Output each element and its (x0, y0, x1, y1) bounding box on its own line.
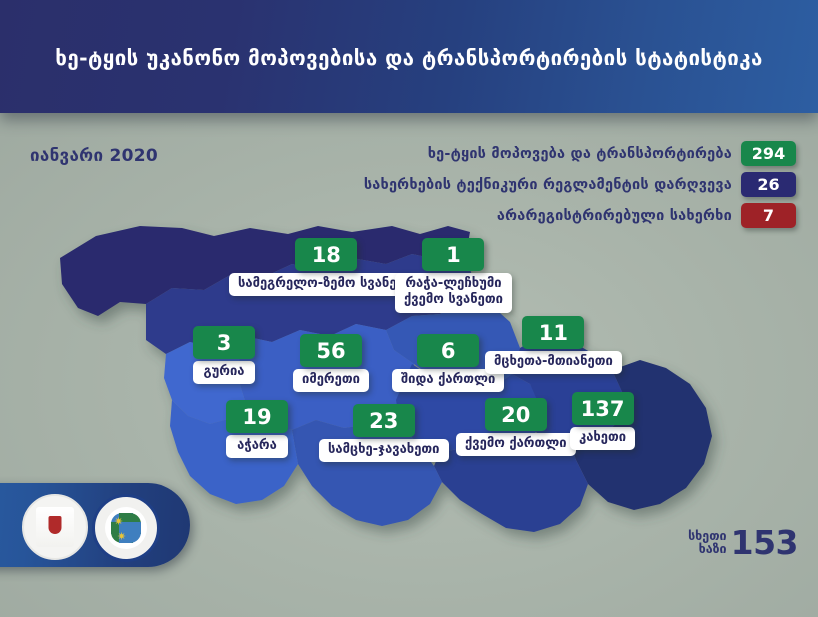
marker-guria[interactable]: 3 გურია (193, 326, 255, 384)
marker-samtskhe-javakheti[interactable]: 23 სამცხე-ჯავახეთი (319, 404, 449, 462)
total-label: სხეთი ხაზი (688, 530, 727, 556)
marker-label: სამცხე-ჯავახეთი (319, 439, 449, 462)
star-icon: ✷ (114, 516, 123, 527)
legend-label: არარეგისტრირებული სახერხი (497, 208, 732, 224)
marker-label: რაჭა-ლეჩხუმი ქვემო სვანეთი (395, 273, 512, 313)
page-title: ხე-ტყის უკანონო მოპოვებისა და ტრანსპორტი… (0, 46, 818, 70)
legend-badge-navy: 26 (741, 172, 796, 197)
marker-value: 137 (572, 392, 634, 425)
star-icon: ✷ (117, 531, 126, 542)
marker-value: 20 (485, 398, 547, 431)
total-value: 153 (731, 526, 798, 559)
shield-icon (49, 516, 62, 534)
legend: ხე-ტყის მოპოვება და ტრანსპორტირება 294 ს… (236, 141, 796, 234)
marker-value: 19 (226, 400, 288, 433)
marker-kvemo-kartli[interactable]: 20 ქვემო ქართლი (456, 398, 576, 456)
seal-shield-panel (36, 507, 74, 547)
marker-mtskheta-mtianeti[interactable]: 11 მცხეთა-მთიანეთი (485, 316, 622, 374)
marker-label: კახეთი (570, 427, 635, 450)
marker-value: 6 (417, 334, 479, 367)
georgia-coat-of-arms-seal-icon (22, 494, 88, 560)
legend-label: ხე-ტყის მოპოვება და ტრანსპორტირება (428, 146, 732, 162)
marker-value: 18 (295, 238, 357, 271)
marker-adjara[interactable]: 19 აჭარა (226, 400, 288, 458)
marker-value: 3 (193, 326, 255, 359)
marker-value: 1 (422, 238, 484, 271)
marker-imereti[interactable]: 56 იმერეთი (293, 334, 369, 392)
legend-item-harvest: ხე-ტყის მოპოვება და ტრანსპორტირება 294 (236, 141, 796, 166)
marker-label: აჭარა (226, 435, 288, 458)
environmental-supervision-seal-icon: ✷ ✷ (92, 494, 160, 562)
logo-pill: ✷ ✷ (0, 483, 190, 567)
legend-item-sawmill-regulation: სახერხების ტექნიკური რეგლამენტის დარღვევ… (236, 172, 796, 197)
legend-item-unregistered-sawmill: არარეგისტრირებული სახერხი 7 (236, 203, 796, 228)
marker-value: 11 (522, 316, 584, 349)
marker-value: 56 (300, 334, 362, 367)
legend-badge-green: 294 (741, 141, 796, 166)
legend-badge-red: 7 (741, 203, 796, 228)
marker-label: ქვემო ქართლი (456, 433, 576, 456)
legend-label: სახერხების ტექნიკური რეგლამენტის დარღვევ… (364, 177, 732, 193)
date-label: იანვარი 2020 (30, 146, 158, 166)
header-bar: ხე-ტყის უკანონო მოპოვებისა და ტრანსპორტი… (0, 0, 818, 113)
seal-face: ✷ ✷ (105, 507, 147, 549)
marker-label: მცხეთა-მთიანეთი (485, 351, 622, 374)
marker-label: გურია (193, 361, 255, 384)
infographic-poster: ხე-ტყის უკანონო მოპოვებისა და ტრანსპორტი… (0, 0, 818, 617)
marker-value: 23 (353, 404, 415, 437)
marker-kakheti[interactable]: 137 კახეთი (570, 392, 635, 450)
total-summary: სხეთი ხაზი 153 (688, 526, 798, 559)
marker-label: იმერეთი (293, 369, 369, 392)
marker-racha-lechkhumi[interactable]: 1 რაჭა-ლეჩხუმი ქვემო სვანეთი (395, 238, 512, 313)
